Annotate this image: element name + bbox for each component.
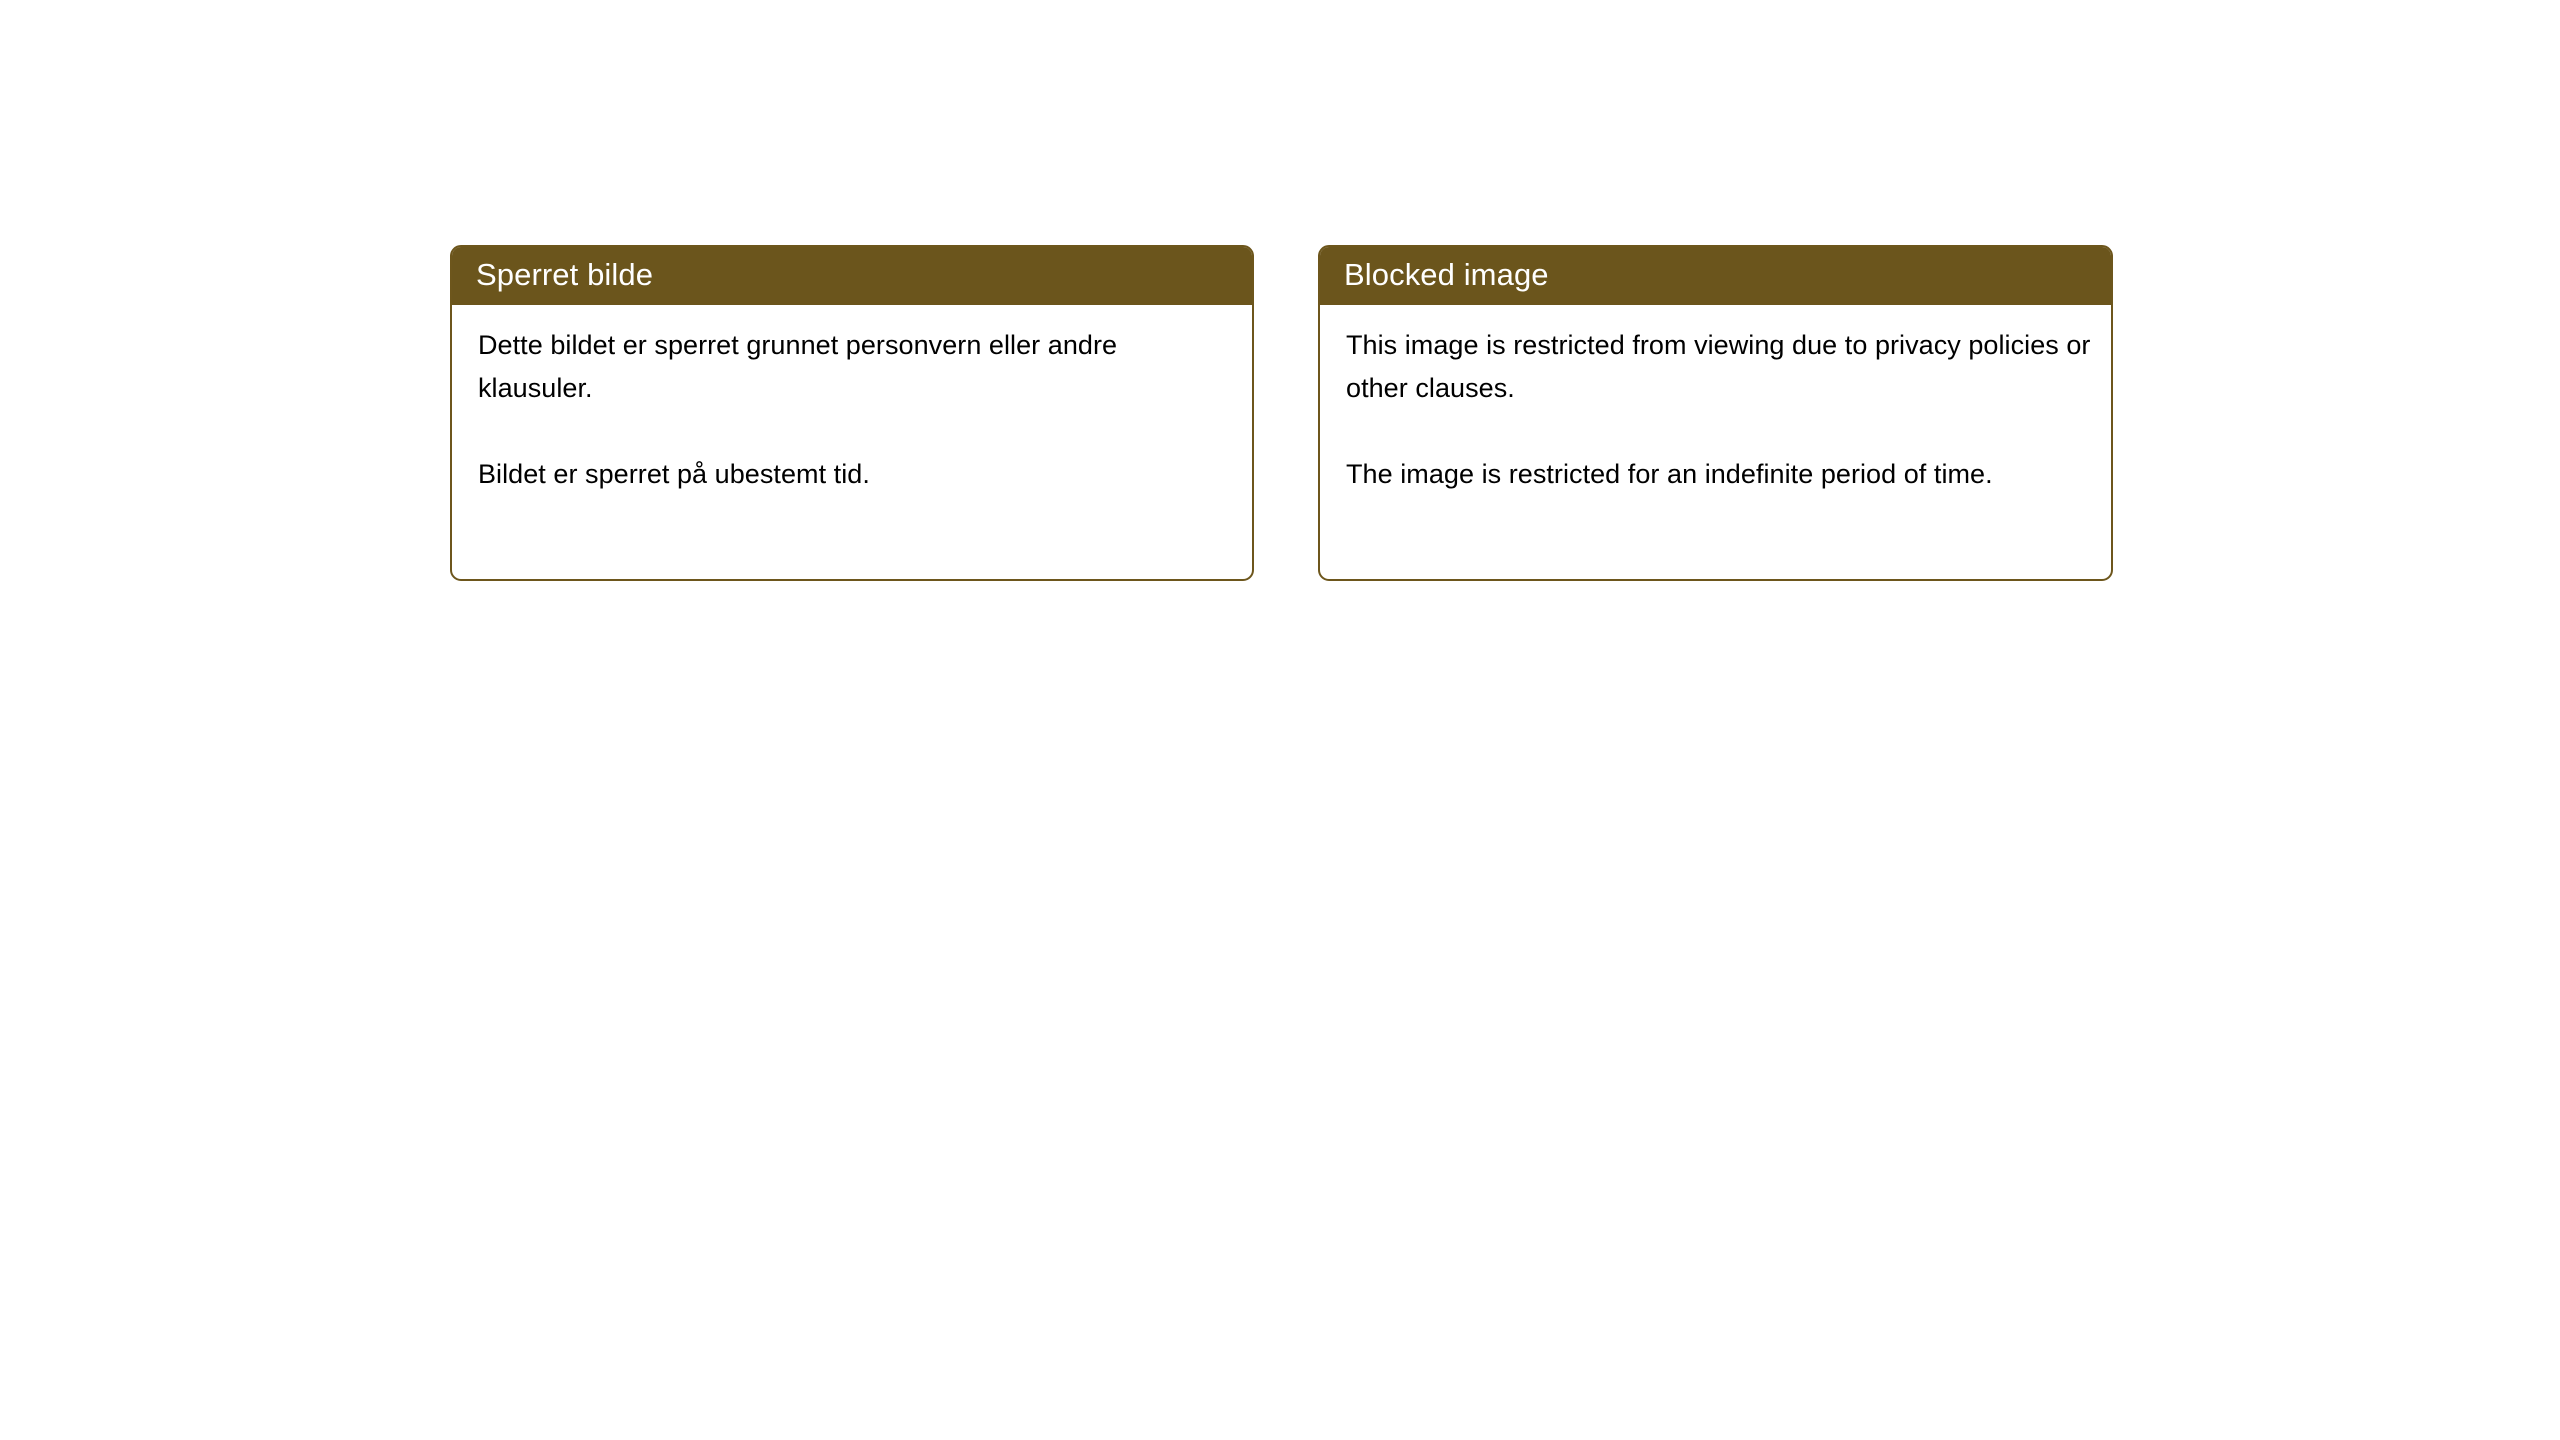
- card-header-en: Blocked image: [1318, 245, 2113, 305]
- card-paragraph-primary-en: This image is restricted from viewing du…: [1346, 324, 2095, 410]
- card-body-en: This image is restricted from viewing du…: [1320, 305, 2111, 496]
- blocked-image-notice-card-no: Sperret bilde Dette bildet er sperret gr…: [450, 245, 1254, 581]
- card-paragraph-primary-no: Dette bildet er sperret grunnet personve…: [478, 324, 1236, 410]
- blocked-image-notice-card-en: Blocked image This image is restricted f…: [1318, 245, 2113, 581]
- card-paragraph-secondary-en: The image is restricted for an indefinit…: [1346, 453, 2095, 496]
- card-header-no: Sperret bilde: [450, 245, 1254, 305]
- card-paragraph-secondary-no: Bildet er sperret på ubestemt tid.: [478, 453, 1236, 496]
- card-title-en: Blocked image: [1344, 258, 1549, 292]
- card-title-no: Sperret bilde: [476, 258, 653, 292]
- page-canvas: Sperret bilde Dette bildet er sperret gr…: [0, 0, 2560, 1440]
- card-body-no: Dette bildet er sperret grunnet personve…: [452, 305, 1252, 496]
